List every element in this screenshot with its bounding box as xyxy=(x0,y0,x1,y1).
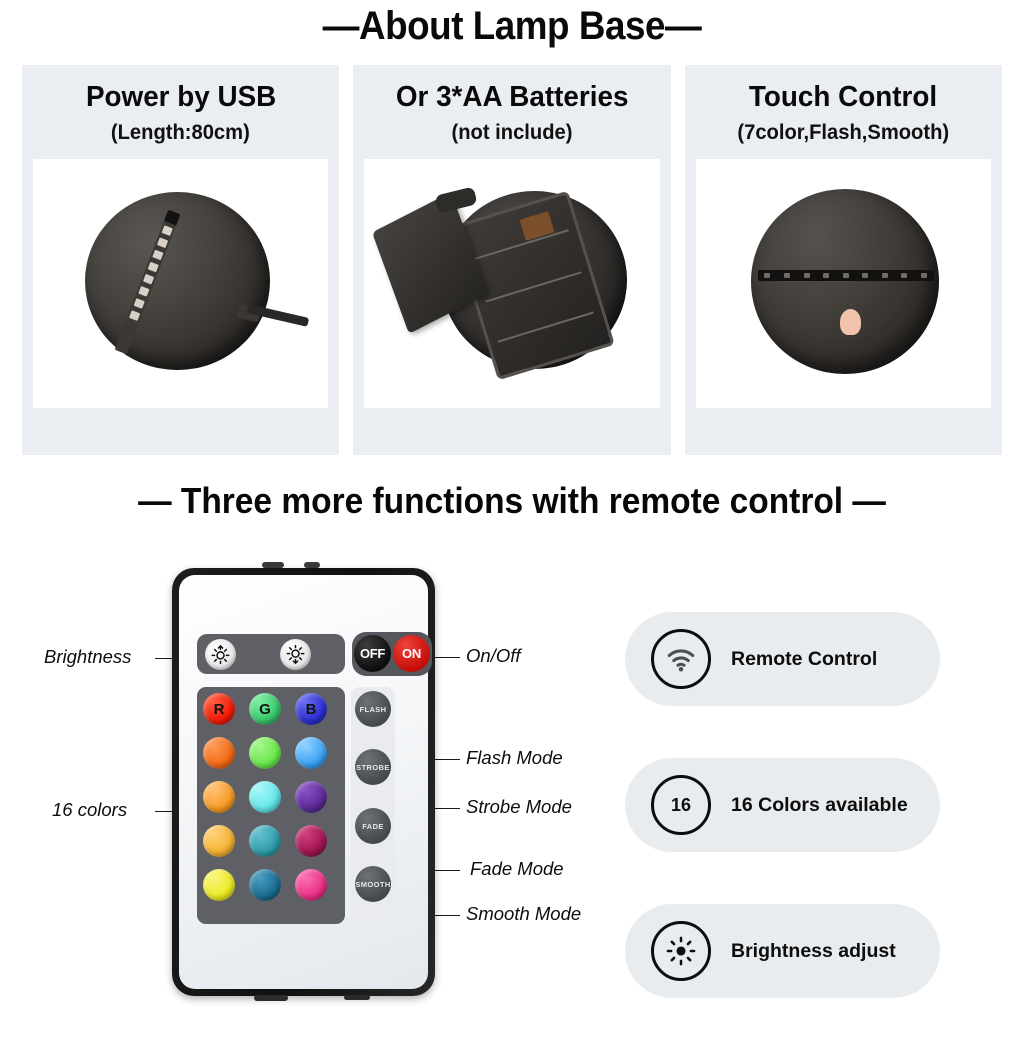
color-button-green[interactable]: G xyxy=(249,693,281,725)
callout-smooth-mode: Smooth Mode xyxy=(466,903,581,925)
remote-bottom-nub xyxy=(254,995,288,1001)
color-button-sky-blue[interactable] xyxy=(295,737,327,769)
feature-card-remote-control[interactable]: Remote Control xyxy=(625,612,940,706)
remote-top-nub xyxy=(262,562,284,568)
brightness-down-button[interactable] xyxy=(280,639,311,670)
power-on-button[interactable]: ON xyxy=(393,635,430,672)
number-badge-icon: 16 xyxy=(651,775,711,835)
color-button-light-green[interactable] xyxy=(249,737,281,769)
remote-top-nub-2 xyxy=(304,562,320,568)
color-button-yellow[interactable] xyxy=(203,869,235,901)
feature-card-brightness[interactable]: Brightness adjust xyxy=(625,904,940,998)
mode-button-smooth[interactable]: SMOOTH xyxy=(355,866,391,902)
mode-button-fade[interactable]: FADE xyxy=(355,808,391,844)
remote-control-body: OFF ON R G B W FLASH STROBE FADE SM xyxy=(172,568,435,996)
color-button-red[interactable]: R xyxy=(203,693,235,725)
callout-16-colors: 16 colors xyxy=(52,799,127,821)
color-button-cyan[interactable] xyxy=(249,781,281,813)
brightness-up-button[interactable] xyxy=(205,639,236,670)
color-button-steel-blue[interactable] xyxy=(249,869,281,901)
wifi-arcs xyxy=(665,643,697,675)
mode-button-strobe[interactable]: STROBE xyxy=(355,749,391,785)
color-button-magenta-dark[interactable] xyxy=(295,825,327,857)
remote-bottom-nub-2 xyxy=(344,995,370,1000)
color-button-gold[interactable] xyxy=(203,825,235,857)
sun-rays xyxy=(665,935,697,967)
power-off-button[interactable]: OFF xyxy=(354,635,391,672)
brightness-up-icon xyxy=(210,644,231,665)
callout-strobe-mode: Strobe Mode xyxy=(466,796,572,818)
color-button-blue[interactable]: B xyxy=(295,693,327,725)
color-button-purple[interactable] xyxy=(295,781,327,813)
wifi-signal-icon xyxy=(651,629,711,689)
callout-brightness: Brightness xyxy=(44,646,131,668)
callout-flash-mode: Flash Mode xyxy=(466,747,563,769)
feature-card-16-colors[interactable]: 16 16 Colors available xyxy=(625,758,940,852)
feature-card-list: Remote Control 16 16 Colors available xyxy=(625,612,940,1050)
remote-faceplate: OFF ON R G B W FLASH STROBE FADE SM xyxy=(179,575,428,989)
callout-fade-mode: Fade Mode xyxy=(470,858,564,880)
color-button-pink[interactable] xyxy=(295,869,327,901)
feature-card-label: Remote Control xyxy=(731,648,877,671)
feature-card-label: 16 Colors available xyxy=(731,794,908,817)
mode-button-flash[interactable]: FLASH xyxy=(355,691,391,727)
color-button-orange[interactable] xyxy=(203,737,235,769)
brightness-down-icon xyxy=(285,644,306,665)
feature-card-label: Brightness adjust xyxy=(731,940,896,963)
brightness-sun-icon xyxy=(651,921,711,981)
color-button-amber[interactable] xyxy=(203,781,235,813)
color-button-teal[interactable] xyxy=(249,825,281,857)
callout-on-off: On/Off xyxy=(466,645,521,667)
